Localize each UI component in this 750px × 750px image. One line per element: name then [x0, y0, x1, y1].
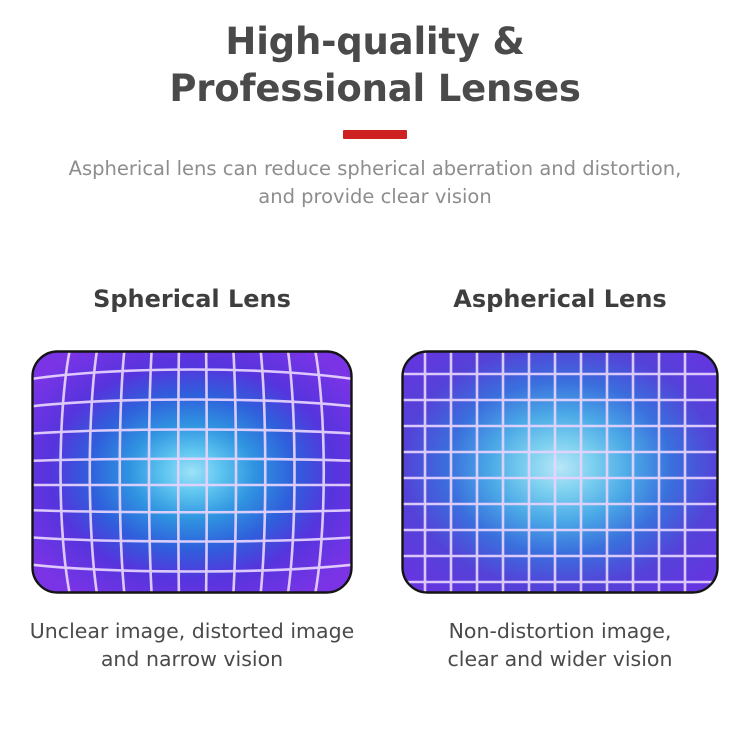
aspherical-lens-heading: Aspherical Lens — [390, 286, 730, 322]
accent-bar-divider — [343, 130, 407, 139]
spherical-lens-image — [31, 350, 353, 594]
lens-comparison-page: High-quality & Professional Lenses Asphe… — [0, 0, 750, 750]
spherical-lens-caption: Unclear image, distorted image and narro… — [22, 618, 362, 674]
aspherical-lens-caption: Non-distortion image, clear and wider vi… — [390, 618, 730, 674]
lens-comparison-section: Spherical Lens — [0, 286, 750, 726]
page-title: High-quality & Professional Lenses — [0, 18, 750, 113]
aspherical-lens-grid-svg — [401, 350, 719, 594]
spherical-lens-heading: Spherical Lens — [22, 286, 362, 322]
spherical-lens-grid-svg — [31, 350, 353, 594]
aspherical-lens-column: Aspherical Lens — [390, 286, 730, 674]
spherical-lens-column: Spherical Lens — [22, 286, 362, 674]
page-header: High-quality & Professional Lenses — [0, 18, 750, 139]
aspherical-lens-image — [401, 350, 719, 594]
page-subtitle: Aspherical lens can reduce spherical abe… — [0, 155, 750, 210]
